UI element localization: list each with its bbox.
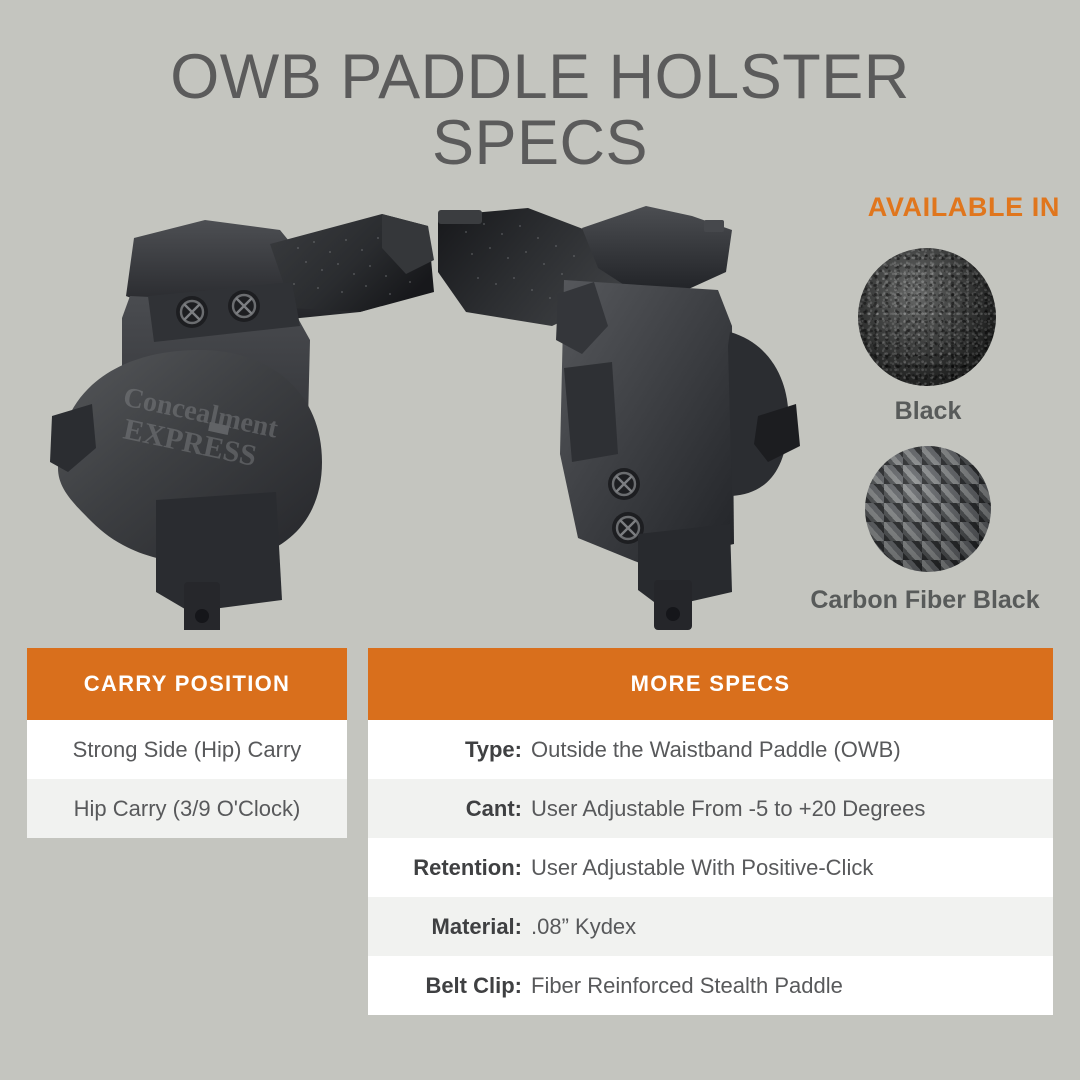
spec-label-belt-clip: Belt Clip: bbox=[368, 973, 531, 999]
more-specs-table-header: MORE SPECS bbox=[368, 648, 1053, 720]
swatch-shading-overlay bbox=[865, 446, 991, 572]
holster-front-view: Concealment EXPRESS bbox=[30, 200, 450, 630]
black-texture-swatch[interactable] bbox=[858, 248, 996, 386]
carry-position-value: Strong Side (Hip) Carry bbox=[73, 737, 302, 763]
spec-label-type: Type: bbox=[368, 737, 531, 763]
table-row: Material: .08” Kydex bbox=[368, 897, 1053, 956]
available-in-heading: AVAILABLE IN bbox=[780, 192, 1070, 223]
table-row: Retention: User Adjustable With Positive… bbox=[368, 838, 1053, 897]
swatch-label-black: Black bbox=[858, 397, 998, 426]
magazine-baseplate bbox=[438, 210, 482, 224]
table-row: Cant: User Adjustable From -5 to +20 Deg… bbox=[368, 779, 1053, 838]
carry-position-table: CARRY POSITION Strong Side (Hip) Carry H… bbox=[27, 648, 347, 838]
carry-position-value: Hip Carry (3/9 O'Clock) bbox=[74, 796, 301, 822]
spec-value-type: Outside the Waistband Paddle (OWB) bbox=[531, 737, 1053, 763]
rear-sight bbox=[704, 220, 724, 232]
bottom-tab-hole bbox=[195, 609, 209, 623]
carry-position-table-header: CARRY POSITION bbox=[27, 648, 347, 720]
spec-value-belt-clip: Fiber Reinforced Stealth Paddle bbox=[531, 973, 1053, 999]
spec-label-material: Material: bbox=[368, 914, 531, 940]
spec-label-retention: Retention: bbox=[368, 855, 531, 881]
table-row: Belt Clip: Fiber Reinforced Stealth Padd… bbox=[368, 956, 1053, 1015]
available-in-panel: AVAILABLE IN Black Carbon Fiber Black bbox=[780, 192, 1070, 233]
holster-rear-view bbox=[432, 194, 832, 634]
swatch-item-carbon-fiber-black[interactable] bbox=[865, 446, 991, 572]
more-specs-table: MORE SPECS Type: Outside the Waistband P… bbox=[368, 648, 1053, 1015]
swatch-item-black[interactable]: Black bbox=[858, 248, 998, 426]
table-row: Type: Outside the Waistband Paddle (OWB) bbox=[368, 720, 1053, 779]
light-cutout bbox=[564, 362, 618, 462]
swatch-label-carbon-fiber-black: Carbon Fiber Black bbox=[780, 586, 1070, 615]
retention-screw-upper bbox=[176, 296, 208, 328]
spec-value-cant: User Adjustable From -5 to +20 Degrees bbox=[531, 796, 1053, 822]
table-row: Hip Carry (3/9 O'Clock) bbox=[27, 779, 347, 838]
spec-value-material: .08” Kydex bbox=[531, 914, 1053, 940]
spec-value-retention: User Adjustable With Positive-Click bbox=[531, 855, 1053, 881]
bottom-tab bbox=[654, 580, 692, 630]
swatch-shading-overlay bbox=[858, 248, 996, 386]
carbon-fiber-black-swatch[interactable] bbox=[865, 446, 991, 572]
bottom-tab-hole bbox=[666, 607, 680, 621]
retention-screw-lower bbox=[228, 290, 260, 322]
spec-label-cant: Cant: bbox=[368, 796, 531, 822]
retention-screw-upper bbox=[608, 468, 640, 500]
table-row: Strong Side (Hip) Carry bbox=[27, 720, 347, 779]
product-image-gallery: Concealment EXPRESS bbox=[0, 190, 840, 630]
page-title: OWB PADDLE HOLSTER SPECS bbox=[0, 44, 1080, 176]
